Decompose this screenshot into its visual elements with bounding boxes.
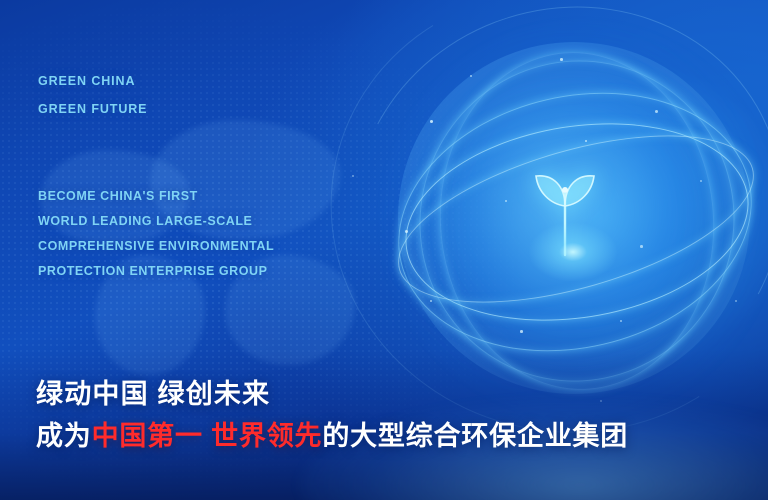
subline-chinese: 成为中国第一 世界领先的大型综合环保企业集团 — [36, 414, 628, 453]
globe-ring — [374, 16, 768, 426]
particle — [600, 400, 602, 402]
particle — [520, 330, 523, 333]
globe-ring — [380, 102, 768, 336]
subline-highlight: 中国第一 世界领先 — [92, 421, 323, 451]
particle — [560, 58, 563, 61]
globe-ring — [372, 59, 768, 385]
particle — [585, 140, 587, 142]
globe-arc — [289, 0, 768, 476]
particle — [470, 75, 472, 77]
globe-icon — [398, 42, 750, 394]
particle — [505, 200, 507, 202]
particle — [430, 300, 432, 302]
globe-ring — [429, 43, 726, 399]
eyebrow-line-1: GREEN CHINA — [38, 74, 135, 88]
globe-arc — [300, 0, 768, 467]
particle — [700, 180, 702, 182]
english-slogan-line: COMPREHENSIVE ENVIRONMENTAL — [38, 234, 274, 259]
particle — [640, 245, 643, 248]
english-slogan-line: WORLD LEADING LARGE-SCALE — [38, 209, 274, 234]
emblem-burst — [528, 222, 618, 282]
eyebrow-line-2: GREEN FUTURE — [38, 102, 147, 116]
particle — [655, 110, 658, 113]
sprout-leaf-emblem-icon — [520, 160, 610, 270]
particle — [620, 320, 622, 322]
particle — [430, 120, 433, 123]
english-slogan-line: BECOME CHINA'S FIRST — [38, 184, 274, 209]
hero-banner: GREEN CHINA GREEN FUTURE BECOME CHINA'S … — [0, 0, 768, 500]
particle — [352, 175, 354, 177]
particle — [405, 230, 408, 233]
subline-suffix: 的大型综合环保企业集团 — [322, 421, 628, 451]
globe-glow — [380, 20, 768, 420]
headline-chinese: 绿动中国 绿创未来 — [36, 372, 270, 411]
particle — [735, 300, 737, 302]
subline-prefix: 成为 — [36, 421, 92, 451]
globe-ring — [391, 100, 763, 344]
english-slogan-line: PROTECTION ENTERPRISE GROUP — [38, 259, 274, 284]
english-slogan-block: BECOME CHINA'S FIRST WORLD LEADING LARGE… — [38, 184, 274, 284]
